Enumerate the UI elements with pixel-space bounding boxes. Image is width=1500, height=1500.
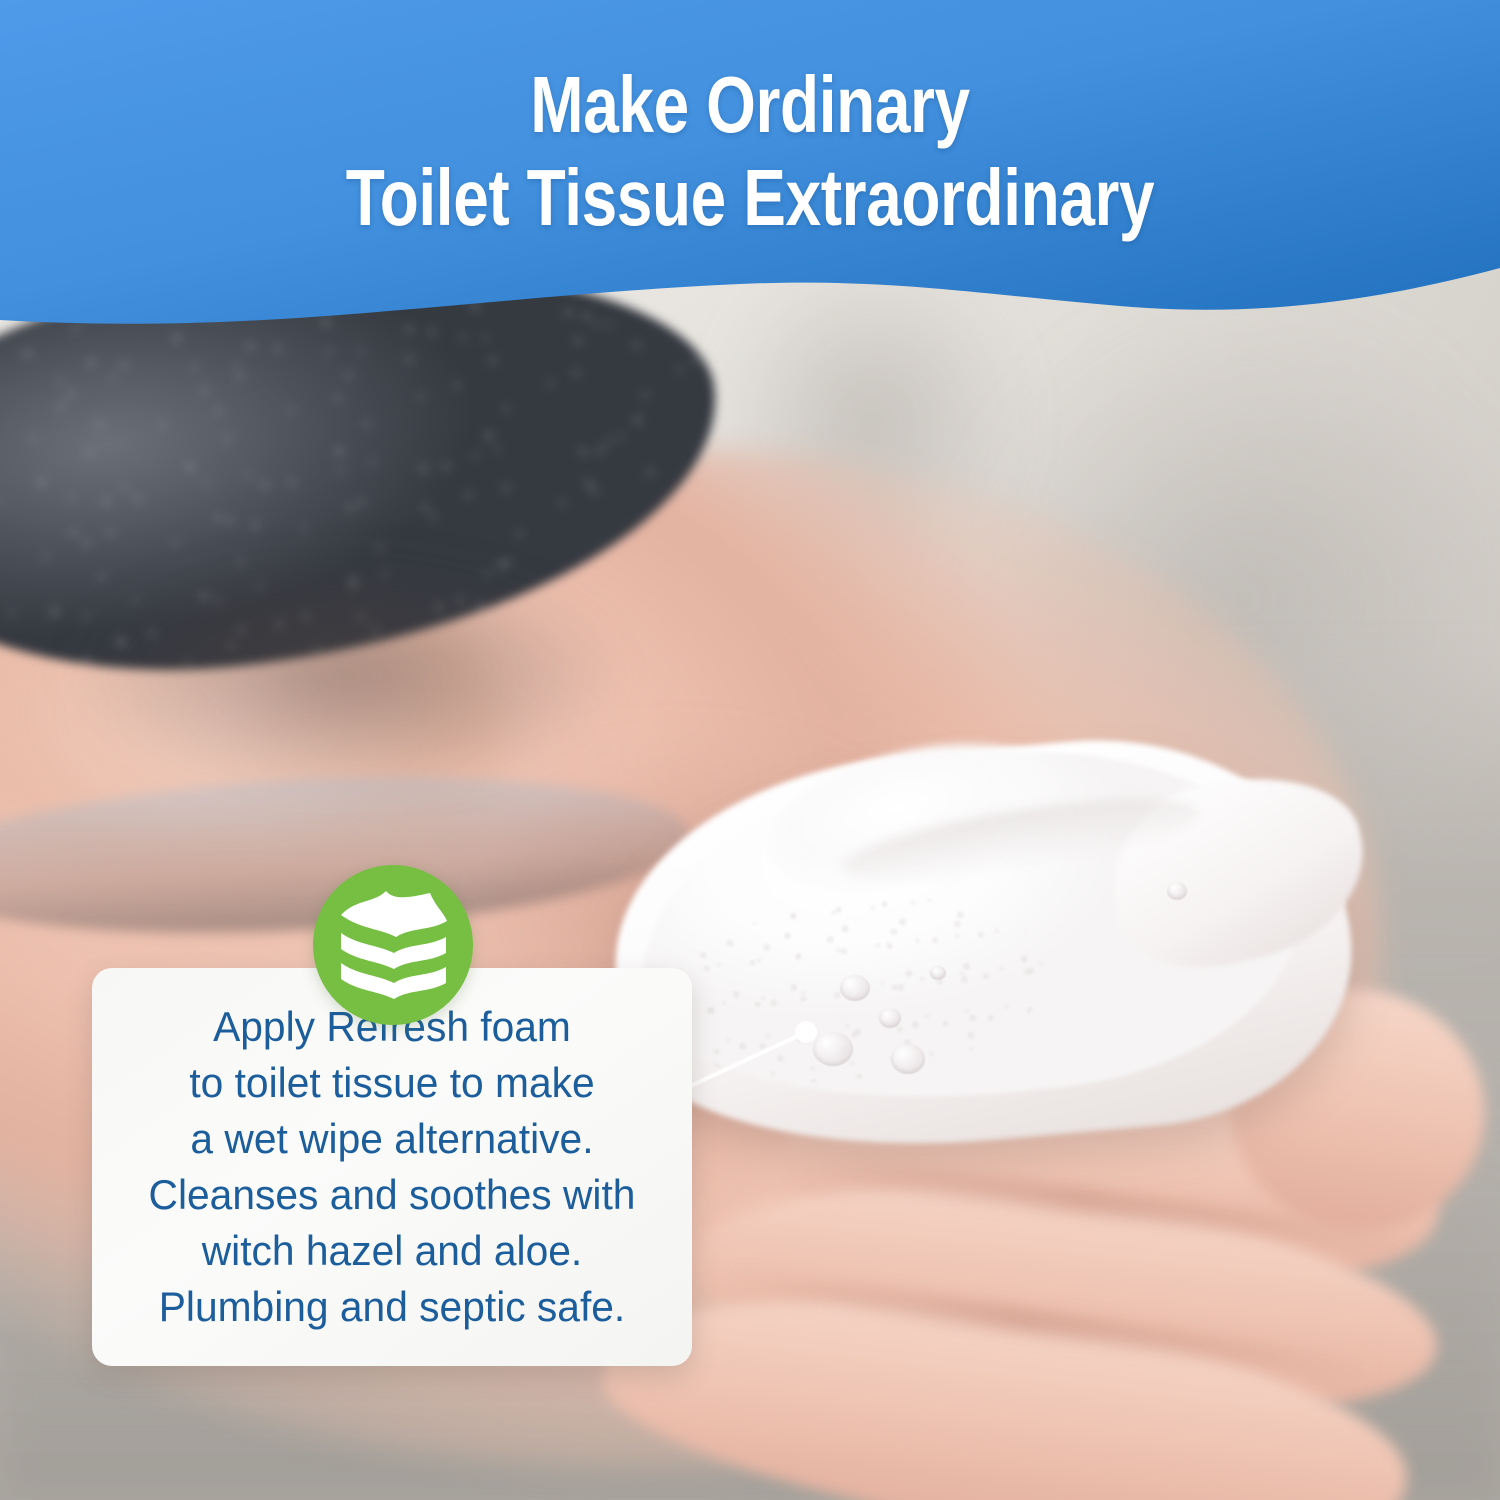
callout-line-2: to toilet tissue to make: [149, 1055, 636, 1111]
feature-badge: [313, 865, 473, 1025]
callout-line-3: a wet wipe alternative.: [149, 1111, 636, 1167]
foam-bubble-1: [840, 975, 870, 1001]
callout-card: Apply Refresh foam to toilet tissue to m…: [92, 968, 692, 1366]
foam-bubble-3: [813, 1032, 853, 1066]
product-feature-image: Make Ordinary Toilet Tissue Extraordinar…: [0, 0, 1500, 1500]
page-title: Make Ordinary Toilet Tissue Extraordinar…: [150, 0, 1350, 244]
callout-text: Apply Refresh foam to toilet tissue to m…: [125, 999, 658, 1335]
header-banner: Make Ordinary Toilet Tissue Extraordinar…: [0, 0, 1500, 360]
callout-line-5: witch hazel and aloe.: [149, 1223, 636, 1279]
foam-bubble-4: [891, 1044, 925, 1074]
foam-bubble-5: [930, 966, 946, 980]
headline-line-1: Make Ordinary: [530, 60, 969, 149]
foam-bubble-2: [879, 1008, 901, 1028]
headline-line-2: Toilet Tissue Extraordinary: [150, 151, 1350, 244]
sweater-shadow: [0, 540, 690, 810]
foam-bubble-6: [1167, 882, 1187, 900]
callout-line-6: Plumbing and septic safe.: [149, 1279, 636, 1335]
stacked-tissue-sheets-icon: [334, 889, 452, 1001]
callout-line-4: Cleanses and soothes with: [149, 1167, 636, 1223]
